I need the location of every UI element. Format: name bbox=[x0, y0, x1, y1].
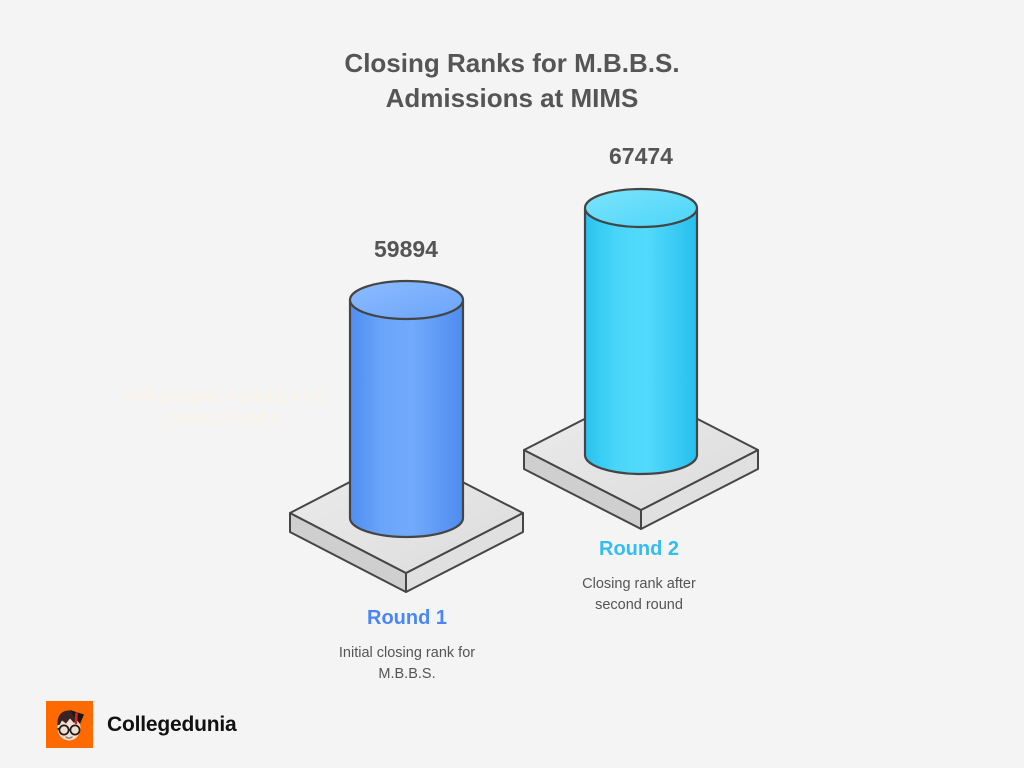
description-round-2-line-1: Closing rank after bbox=[519, 574, 759, 595]
caption-round-2: Round 2 Closing rank after second round bbox=[519, 538, 759, 615]
brand-name: Collegedunia bbox=[107, 713, 236, 737]
value-label-round-1: 59894 bbox=[306, 236, 506, 263]
caption-round-1: Round 1 Initial closing rank for M.B.B.S… bbox=[287, 607, 527, 684]
infographic-canvas: PRESIDENCY COLLEGE BANGALORE Closing Ran… bbox=[0, 0, 1024, 768]
description-round-1-line-1: Initial closing rank for bbox=[287, 643, 527, 664]
value-label-round-2: 67474 bbox=[541, 143, 741, 170]
description-round-2-line-2: second round bbox=[519, 595, 759, 616]
cylinder-round-1 bbox=[350, 281, 463, 537]
brand-footer: Collegedunia bbox=[46, 701, 236, 748]
category-label-round-2: Round 2 bbox=[519, 538, 759, 561]
category-label-round-1: Round 1 bbox=[287, 607, 527, 630]
cylinder-round-2 bbox=[585, 189, 697, 474]
description-round-2: Closing rank after second round bbox=[519, 574, 759, 615]
description-round-1: Initial closing rank for M.B.B.S. bbox=[287, 643, 527, 684]
graduate-mascot-icon bbox=[46, 701, 93, 748]
description-round-1-line-2: M.B.B.S. bbox=[287, 664, 527, 685]
